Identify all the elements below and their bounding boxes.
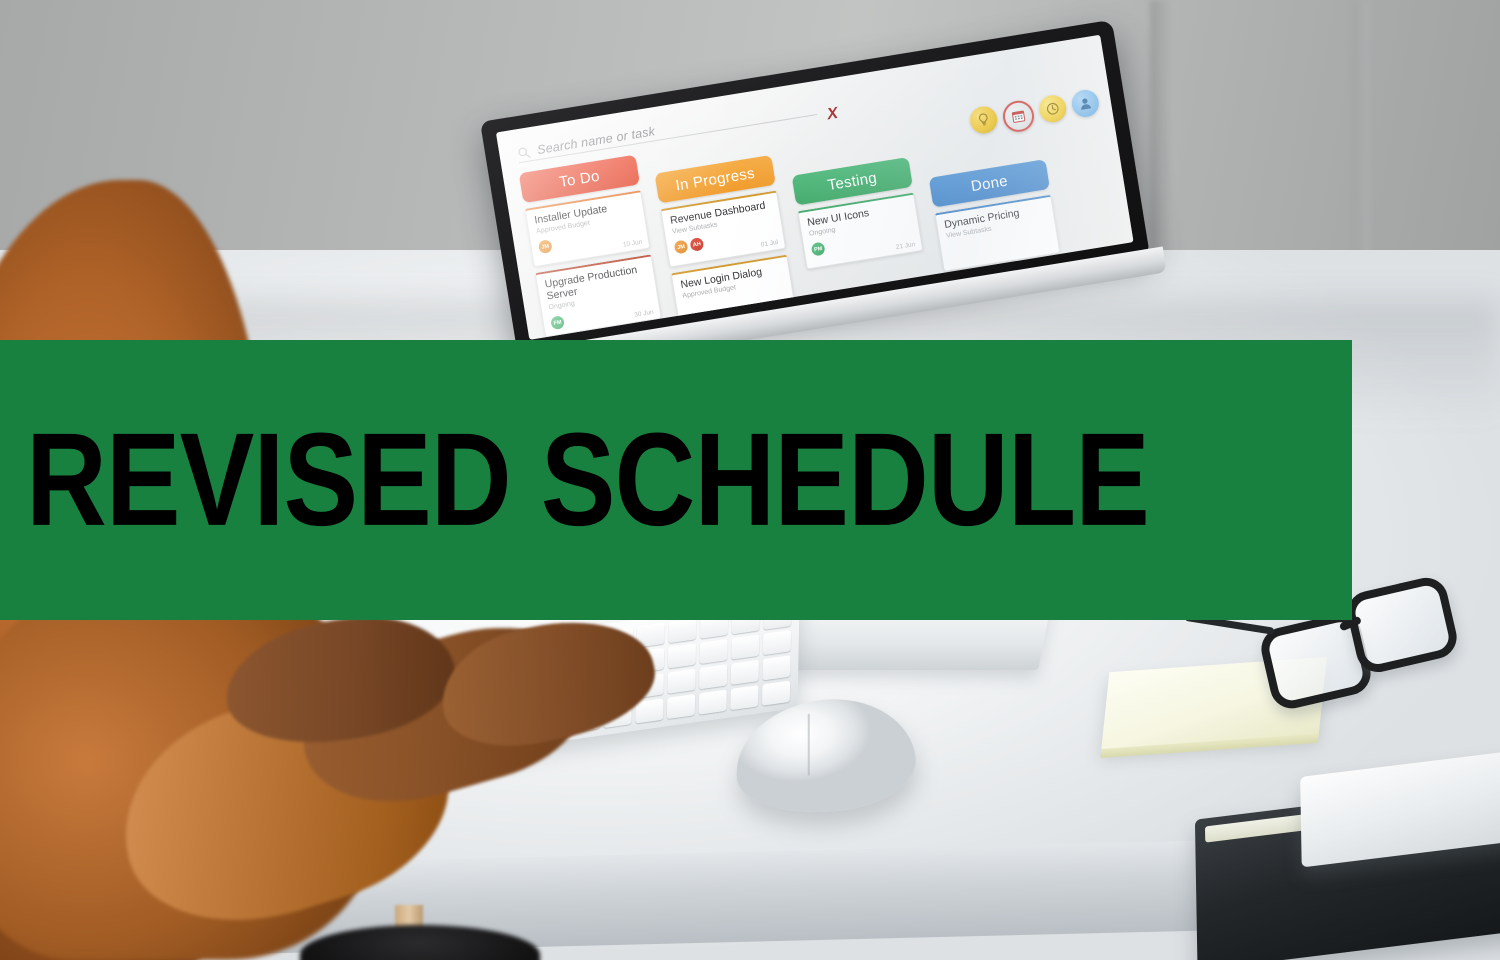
kanban-column-in-progress: In Progress Revenue Dashboard View Subta… [655, 155, 797, 332]
avatar: JM [674, 240, 689, 255]
avatar: JM [538, 239, 553, 254]
task-card[interactable]: Upgrade Production Server Ongoing FM 30 … [535, 254, 662, 337]
task-card[interactable]: New UI Icons Ongoing PM 21 Jun [797, 193, 923, 270]
task-card[interactable]: Revenue Dashboard View Subtasks JM AH 01… [660, 190, 786, 267]
kanban-column-done: Done Dynamic Pricing View Subtasks [929, 159, 1061, 272]
avatar: FM [550, 315, 565, 330]
avatar: AH [689, 237, 704, 252]
card-date: 21 Jun [895, 241, 915, 251]
mouse-button-divider [808, 714, 810, 776]
card-date: 01 Jul [760, 239, 778, 249]
kanban-column-testing: Testing New UI Icons Ongoing PM 21 Jun [792, 157, 924, 270]
eyeglasses-right-lens [1343, 574, 1461, 677]
task-card[interactable]: Dynamic Pricing View Subtasks [934, 195, 1060, 272]
search-input-placeholder[interactable]: Search name or task [536, 124, 656, 157]
search-icon [516, 145, 531, 160]
revised-schedule-banner: REVISED SCHEDULE [0, 340, 1352, 620]
avatar: PM [811, 242, 826, 257]
kanban-column-to-do: To Do Installer Update Approved Budget J… [519, 155, 662, 338]
task-card[interactable]: Installer Update Approved Budget JM 10 J… [524, 190, 650, 267]
screenshot-stage: Search name or task X [0, 0, 1500, 960]
card-date: 30 Jun [634, 309, 654, 319]
banner-title: REVISED SCHEDULE [26, 414, 1149, 546]
card-date: 10 Jun [622, 239, 642, 249]
